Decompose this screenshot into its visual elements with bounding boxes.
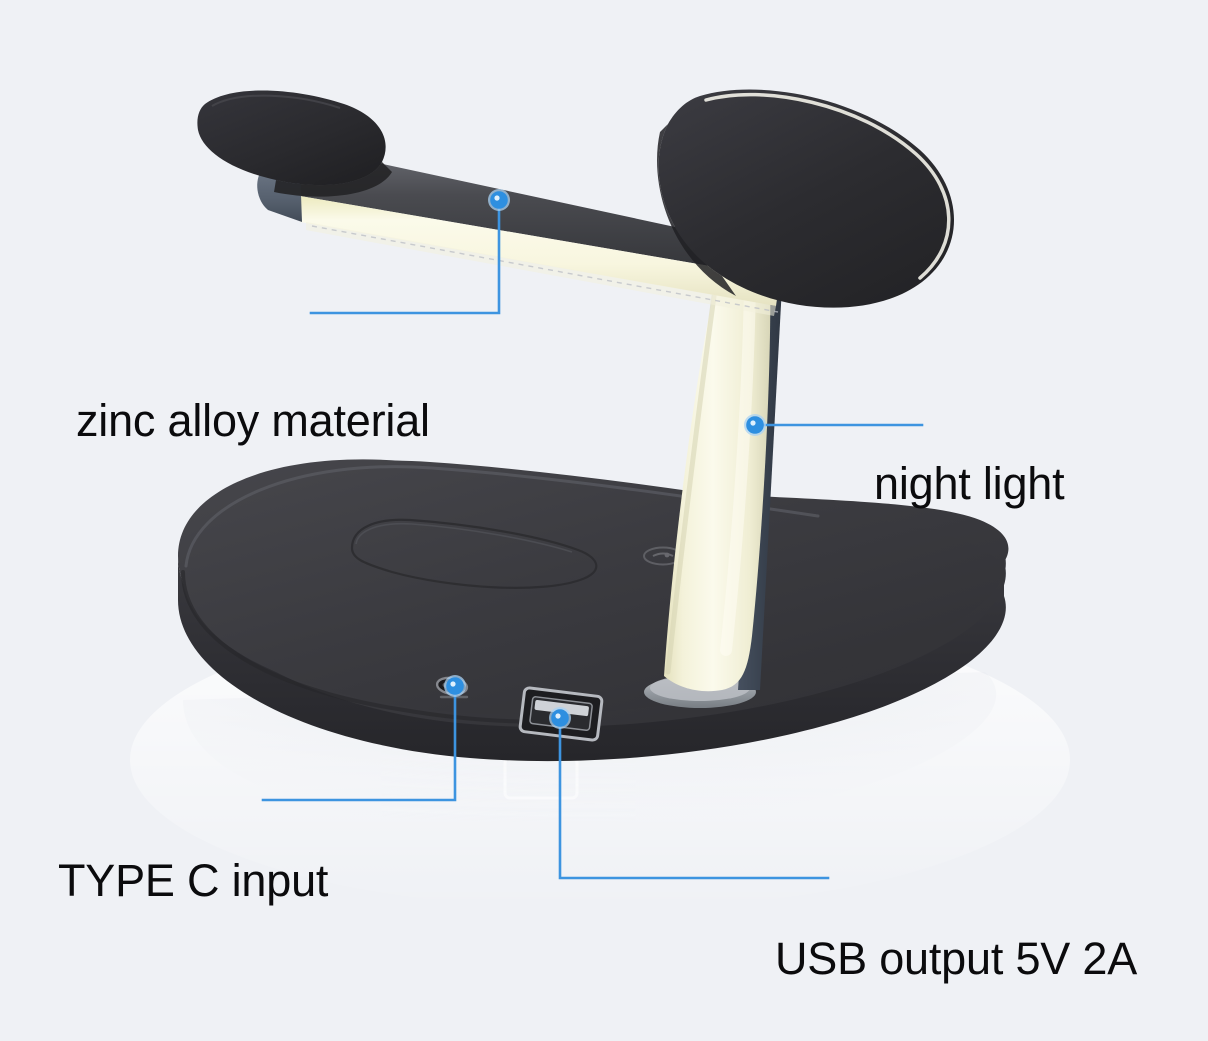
- callout-label-usb-output: USB output 5V 2A: [775, 936, 1137, 981]
- leader-dot-glint: [555, 713, 560, 718]
- diagram-canvas: zinc alloy material night light TYPE C i…: [0, 0, 1208, 1041]
- leader-dot[interactable]: [748, 418, 763, 433]
- callout-label-night-light: night light: [874, 461, 1064, 506]
- leader-dot-glint: [494, 195, 499, 200]
- leader-dot-glint: [750, 420, 755, 425]
- leader-dot-glint: [450, 681, 455, 686]
- callout-label-zinc-alloy-material: zinc alloy material: [76, 398, 430, 443]
- callout-label-type-c-input: TYPE C input: [58, 858, 328, 903]
- leader-dot[interactable]: [492, 193, 507, 208]
- leader-dot[interactable]: [448, 679, 463, 694]
- leader-dot[interactable]: [553, 711, 568, 726]
